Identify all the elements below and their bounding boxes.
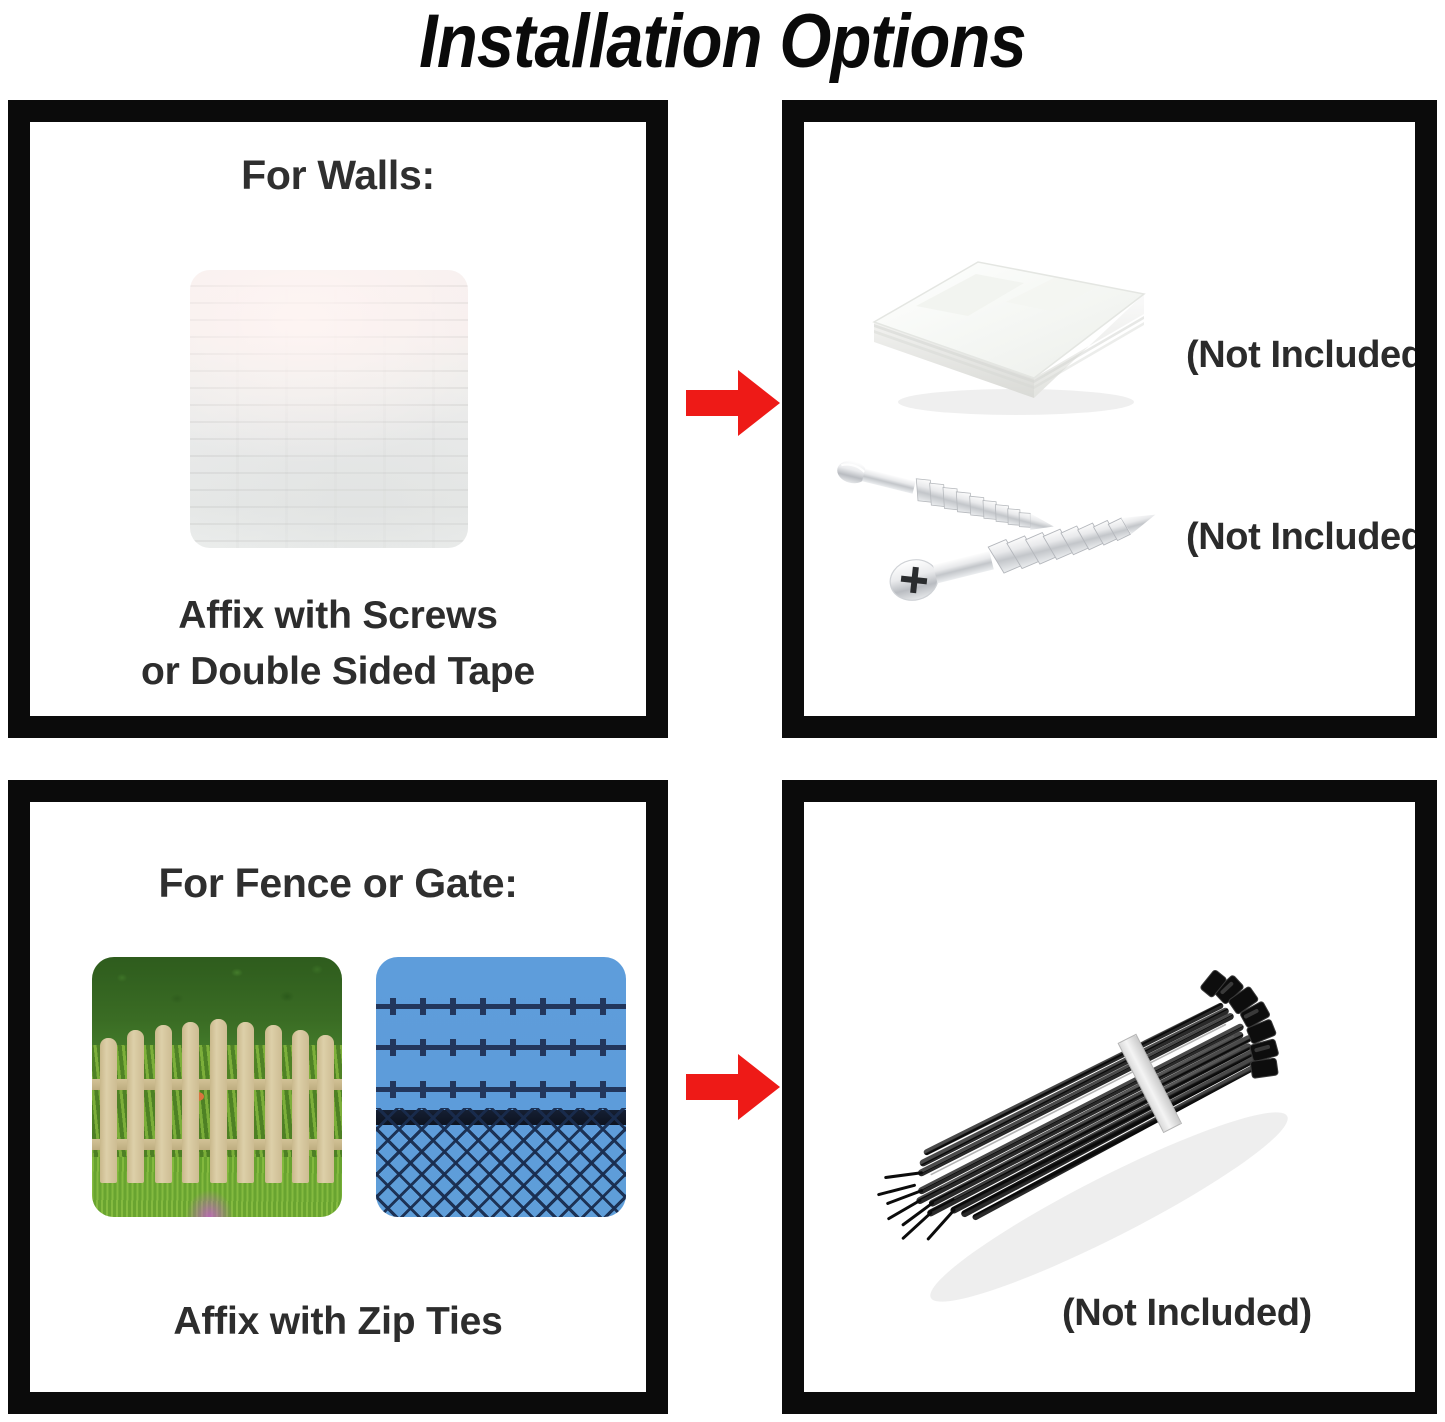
panel-wall-hardware-content: (Not Included) (804, 122, 1415, 716)
red-right-arrow-top (686, 368, 780, 438)
fence-picket (155, 1025, 172, 1184)
silver-screws-pair (822, 442, 1202, 622)
double-sided-tape-stack (856, 230, 1156, 420)
wall-light-wash (190, 270, 468, 548)
panel-fence-hardware: (Not Included) (782, 780, 1437, 1414)
fence-picket (292, 1030, 309, 1183)
fence-picket (237, 1022, 254, 1183)
fence-picket (265, 1025, 282, 1184)
chain-link-barbed-wire-fence-photo (376, 957, 626, 1217)
barbed-wire-strand (376, 1004, 626, 1009)
ziptie-not-included-label: (Not Included) (1062, 1292, 1312, 1335)
wooden-picket-fence-photo (92, 957, 342, 1217)
panel-for-walls: For Walls: Affix with Screws or Double S… (8, 100, 668, 738)
tape-not-included-label: (Not Included) (1186, 334, 1415, 377)
panel-for-walls-caption-line-2: or Double Sided Tape (30, 650, 646, 694)
fence-picket (100, 1038, 117, 1184)
fence-picket (182, 1022, 199, 1183)
fence-picket (210, 1019, 227, 1183)
panel-for-walls-content: For Walls: Affix with Screws or Double S… (30, 122, 646, 716)
red-right-arrow-bottom (686, 1052, 780, 1122)
panel-for-fence-heading: For Fence or Gate: (30, 860, 646, 907)
screws-not-included-label: (Not Included) (1186, 516, 1415, 559)
panel-wall-hardware: (Not Included) (782, 100, 1437, 738)
panel-for-fence-or-gate-content: For Fence or Gate: (30, 802, 646, 1392)
black-zip-ties-bundle (859, 907, 1339, 1307)
panel-for-walls-caption-line-1: Affix with Screws (30, 594, 646, 638)
fence-picket (317, 1035, 334, 1183)
panel-fence-hardware-content: (Not Included) (804, 802, 1415, 1392)
panel-for-fence-caption: Affix with Zip Ties (30, 1300, 646, 1344)
chain-link-mesh (376, 1108, 626, 1217)
barbed-wire-strand (376, 1045, 626, 1050)
page-title: Installation Options (87, 0, 1359, 88)
panel-for-fence-or-gate: For Fence or Gate: (8, 780, 668, 1414)
barbed-wire-strand (376, 1087, 626, 1092)
fence-picket (127, 1030, 144, 1183)
panel-for-walls-heading: For Walls: (30, 152, 646, 199)
white-brick-wall-photo (190, 270, 468, 548)
